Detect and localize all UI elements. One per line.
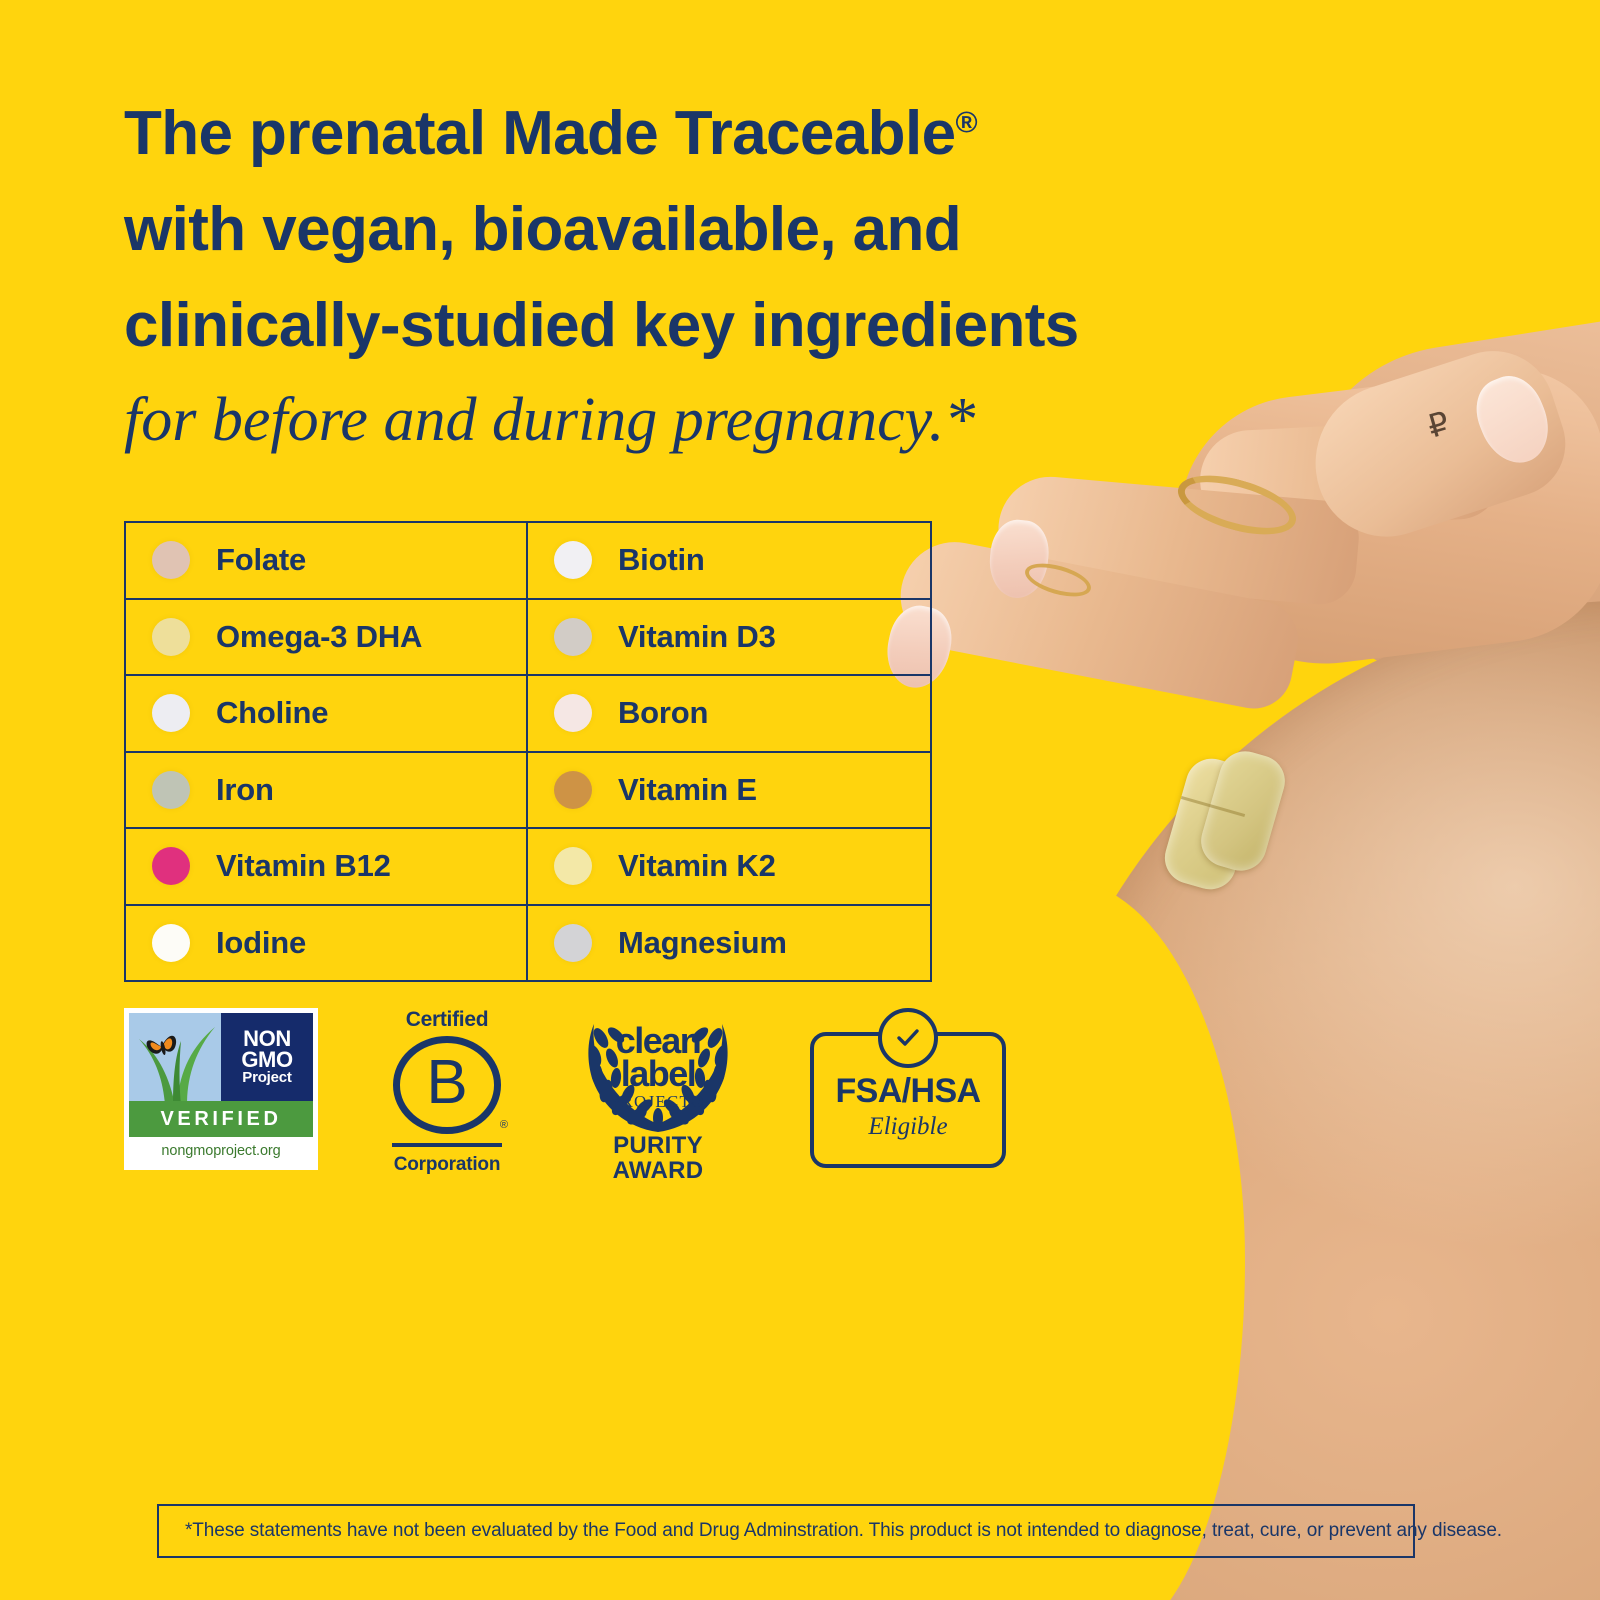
ingredient-cell: Vitamin K2 [528,829,930,904]
ingredient-cell: Choline [126,676,528,751]
b-corp-circle-icon: B ® [393,1036,501,1134]
pill-dot-icon [152,847,190,885]
ingredient-label: Vitamin K2 [618,848,776,884]
non-gmo-illustration [129,1013,221,1101]
clean-label-project-purity-award-badge: clean label PROJECT® PURITY AWARD [568,1008,748,1178]
ingredient-label: Folate [216,542,306,578]
headline-line-3: clinically-studied key ingredients [124,278,1244,374]
non-gmo-line-2: GMO [241,1049,292,1070]
ingredient-cell: Vitamin E [528,753,930,828]
clean-label-wordmark: clean label PROJECT® [568,1024,748,1110]
ingredient-cell: Folate [126,523,528,598]
ingredient-cell: Iron [126,753,528,828]
b-corp-registered-mark: ® [500,1119,508,1131]
table-row: Choline Boron [126,676,930,753]
non-gmo-wordmark: NON GMO Project [221,1013,313,1101]
non-gmo-line-1: NON [243,1028,291,1049]
non-gmo-project-verified-badge: NON GMO Project VERIFIED nongmoproject.o… [124,1008,318,1170]
headline-line-2: with vegan, bioavailable, and [124,182,1244,278]
checkmark-circle-icon [878,1008,938,1068]
ingredient-cell: Vitamin D3 [528,600,930,675]
clean-label-line-2: label [568,1057,748,1090]
ingredient-cell: Boron [528,676,930,751]
purity-award-label: PURITY AWARD [568,1134,748,1184]
headline-line-1-text: The prenatal Made Traceable [124,99,955,168]
table-row: Folate Biotin [126,523,930,600]
grass-and-butterfly-icon [129,1017,221,1101]
checkmark-icon [894,1024,922,1052]
ingredient-label: Choline [216,695,328,731]
clean-label-line-1: clean [568,1024,748,1057]
ingredient-cell: Iodine [126,906,528,981]
pill-dot-icon [554,694,592,732]
purity-award-line-1: PURITY [568,1134,748,1159]
certification-badges: NON GMO Project VERIFIED nongmoproject.o… [124,1008,1006,1178]
b-corp-certified-badge: Certified B ® Corporation [372,1008,522,1176]
b-corp-corporation-label: Corporation [394,1154,501,1176]
ingredient-label: Vitamin D3 [618,619,776,655]
purity-award-line-2: AWARD [568,1159,748,1184]
registered-trademark-icon: ® [955,106,977,139]
ingredient-label: Iron [216,772,274,808]
pill-dot-icon [152,618,190,656]
pill-dot-icon [152,924,190,962]
fsa-hsa-title: FSA/HSA [835,1072,980,1111]
ingredient-table: Folate Biotin Omega-3 DHA Vitamin D3 Cho… [124,521,932,982]
table-row: Iodine Magnesium [126,906,930,981]
non-gmo-line-3: Project [242,1071,291,1085]
non-gmo-top: NON GMO Project [129,1013,313,1101]
fsa-hsa-subtitle: Eligible [868,1113,947,1141]
disclaimer-box: *These statements have not been evaluate… [157,1504,1415,1558]
b-corp-letter: B [426,1052,467,1114]
b-corp-divider [392,1143,502,1147]
ingredient-label: Biotin [618,542,705,578]
ingredient-label: Magnesium [618,925,787,961]
pill-dot-icon [554,847,592,885]
disclaimer-text: *These statements have not been evaluate… [185,1520,1502,1542]
ingredient-cell: Biotin [528,523,930,598]
pill-dot-icon [152,771,190,809]
pill-dot-icon [152,541,190,579]
table-row: Omega-3 DHA Vitamin D3 [126,600,930,677]
pill-dot-icon [554,771,592,809]
ingredient-label: Vitamin B12 [216,848,391,884]
non-gmo-verified-band: VERIFIED [129,1101,313,1137]
pill-dot-icon [152,694,190,732]
ingredient-label: Iodine [216,925,306,961]
headline-line-1: The prenatal Made Traceable® [124,86,1244,182]
ingredient-label: Boron [618,695,708,731]
ingredient-cell: Vitamin B12 [126,829,528,904]
headline: The prenatal Made Traceable® with vegan,… [124,86,1244,467]
fsa-hsa-eligible-badge: FSA/HSA Eligible [810,1032,1006,1168]
headline-line-4-italic: for before and during pregnancy.* [124,374,1244,467]
non-gmo-url: nongmoproject.org [129,1137,313,1165]
ingredient-cell: Omega-3 DHA [126,600,528,675]
ingredient-label: Omega-3 DHA [216,619,422,655]
ingredient-cell: Magnesium [528,906,930,981]
clean-label-line-3: PROJECT® [568,1094,748,1110]
table-row: Vitamin B12 Vitamin K2 [126,829,930,906]
ingredient-label: Vitamin E [618,772,757,808]
pill-dot-icon [554,924,592,962]
b-corp-certified-label: Certified [406,1008,488,1032]
pill-dot-icon [554,618,592,656]
table-row: Iron Vitamin E [126,753,930,830]
pill-dot-icon [554,541,592,579]
